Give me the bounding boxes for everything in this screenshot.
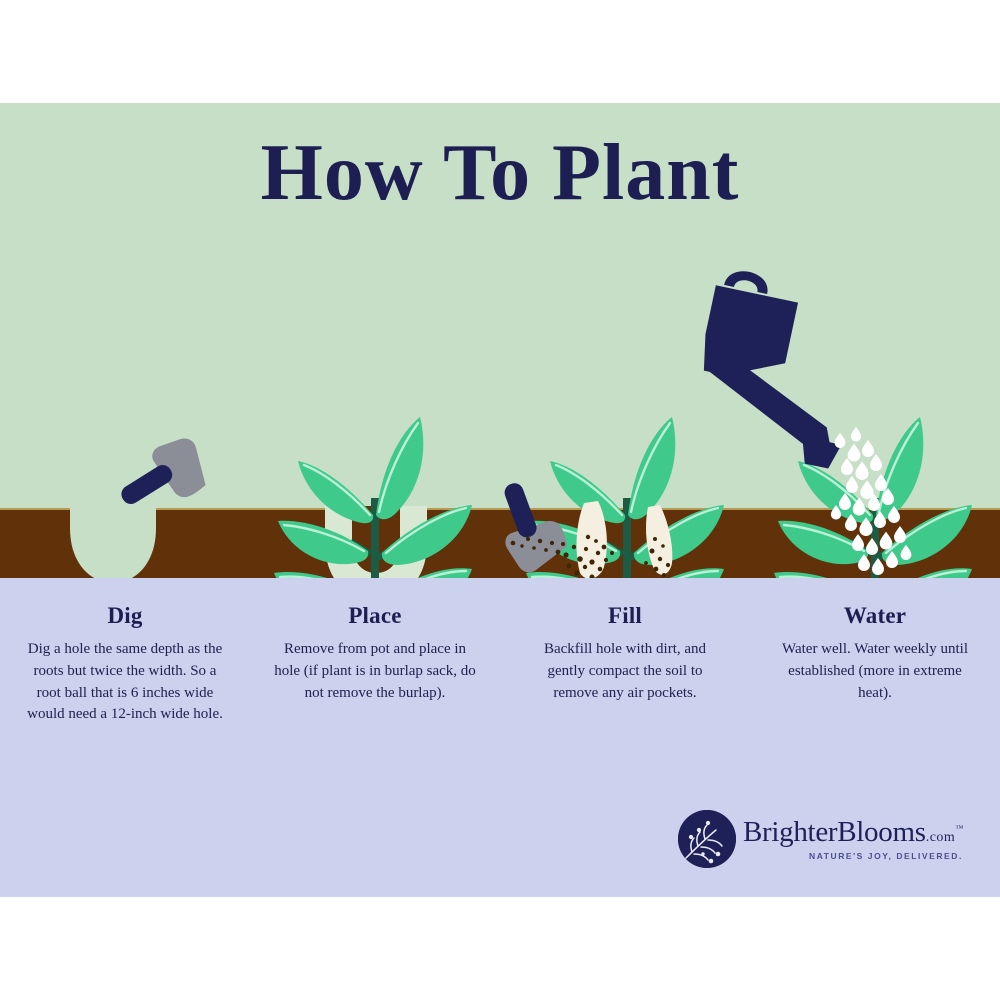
step-column-place: Place Remove from pot and place in hole … — [250, 603, 500, 833]
step-heading-place: Place — [272, 603, 478, 629]
logo-brand-suffix: .com — [926, 830, 956, 845]
step-body-fill: Backfill hole with dirt, and gently comp… — [522, 639, 728, 704]
logo-trademark-icon: ™ — [955, 823, 963, 832]
empty-planting-hole — [70, 506, 156, 578]
logo-tagline: NATURE'S JOY, DELIVERED. — [743, 852, 963, 861]
logo-brand-first: Brighter — [743, 816, 837, 848]
steps-columns: Dig Dig a hole the same depth as the roo… — [0, 603, 1000, 833]
logo-brand-name: BrighterBlooms.com™ — [743, 818, 963, 847]
step-heading-fill: Fill — [522, 603, 728, 629]
logo-wordmark: BrighterBlooms.com™ NATURE'S JOY, DELIVE… — [743, 818, 963, 861]
art-fill-panel — [479, 417, 724, 578]
step-body-water: Water well. Water weekly until establish… — [772, 639, 978, 704]
art-dig-panel — [70, 423, 218, 578]
step-column-dig: Dig Dig a hole the same depth as the roo… — [0, 603, 250, 833]
step-heading-water: Water — [772, 603, 978, 629]
plant-illustration-place — [274, 417, 472, 578]
art-place-panel — [274, 417, 472, 578]
dirt-fill-left — [577, 501, 607, 578]
infographic-poster: How To Plant — [0, 103, 1000, 897]
step-heading-dig: Dig — [22, 603, 228, 629]
step-column-water: Water Water well. Water weekly until est… — [750, 603, 1000, 833]
step-body-place: Remove from pot and place in hole (if pl… — [272, 639, 478, 704]
brand-logo: BrighterBlooms.com™ NATURE'S JOY, DELIVE… — [678, 808, 948, 870]
logo-brand-second: Blooms — [837, 816, 925, 848]
illustration-scene — [0, 103, 1000, 578]
logo-circle-icon — [678, 810, 736, 868]
step-body-dig: Dig a hole the same depth as the roots b… — [22, 639, 228, 726]
art-water-panel — [683, 266, 972, 578]
step-column-fill: Fill Backfill hole with dirt, and gently… — [500, 603, 750, 833]
